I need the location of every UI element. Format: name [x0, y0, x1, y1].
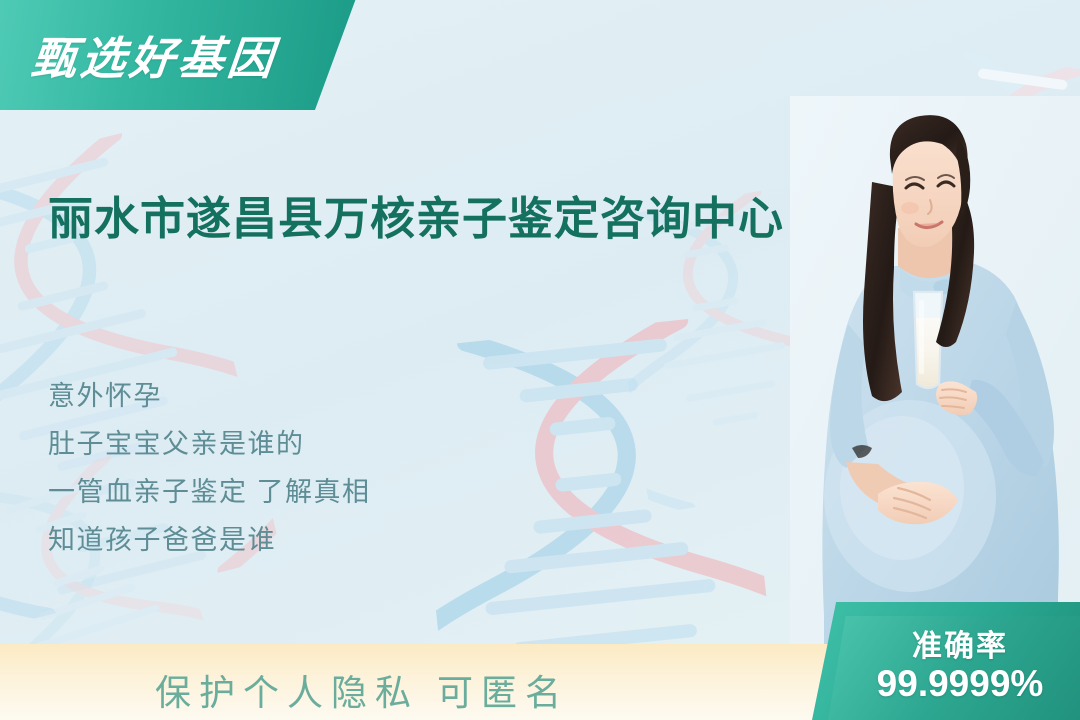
- pregnant-woman-photo: [790, 96, 1080, 676]
- promo-poster: 甄选好基因 丽水市遂昌县万核亲子鉴定咨询中心 意外怀孕 肚子宝宝父亲是谁的 一管…: [0, 0, 1080, 720]
- brand-logo-text: 甄选好基因: [29, 22, 281, 87]
- privacy-statement: 保护个人隐私 可匿名: [155, 664, 569, 716]
- copy-line: 一管血亲子鉴定 了解真相: [48, 468, 568, 516]
- copy-line: 肚子宝宝父亲是谁的: [48, 420, 568, 468]
- accuracy-value: 99.9999%: [877, 664, 1044, 705]
- brand-logo-banner[interactable]: 甄选好基因: [0, 0, 362, 110]
- copy-line: 知道孩子爸爸是谁: [48, 516, 568, 564]
- accuracy-badge: 准确率 99.9999%: [812, 602, 1080, 720]
- accuracy-label: 准确率: [912, 631, 1008, 663]
- copy-line: 意外怀孕: [48, 372, 568, 420]
- body-copy: 意外怀孕 肚子宝宝父亲是谁的 一管血亲子鉴定 了解真相 知道孩子爸爸是谁: [48, 372, 568, 564]
- accuracy-badge-inner: 准确率 99.9999%: [828, 616, 1080, 720]
- page-title: 丽水市遂昌县万核亲子鉴定咨询中心: [48, 190, 848, 248]
